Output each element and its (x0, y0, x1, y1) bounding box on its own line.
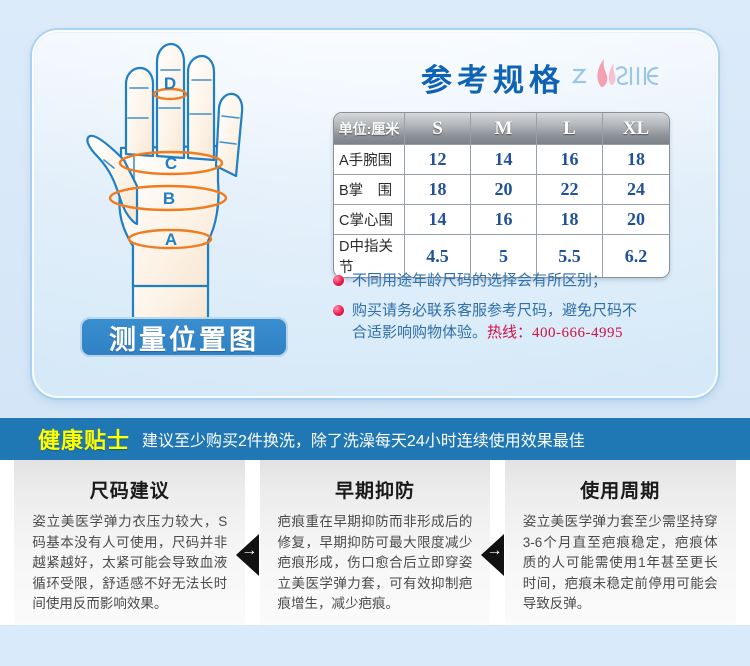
cell-palmcenter-l: 18 (537, 205, 603, 235)
column-body-usage-period: 姿立美医学弹力套至少需坚持穿3-6个月直至疤痕稳定，疤痕体质的人可能需使用1年甚… (523, 512, 718, 615)
spec-header: 参考规格 (333, 44, 678, 96)
column-gap (736, 460, 750, 625)
cell-wrist-s: 12 (405, 145, 471, 175)
note-item: 购买请务必联系客服参考尺码，避免尺码不 合适影响购物体验。热线：400-666-… (333, 300, 683, 344)
bullet-dot-icon (333, 275, 344, 286)
table-row: B掌 围 18 20 22 24 (334, 175, 669, 205)
health-tip-text: 建议至少购买2件换洗，除了洗澡每天24小时连续使用效果最佳 (142, 427, 585, 451)
cell-wrist-xl: 18 (603, 145, 669, 175)
table-header-row: 单位:厘米 S M L XL (334, 113, 669, 145)
zslmes-logo-svg (571, 56, 663, 90)
table-header-m: M (471, 113, 537, 145)
table-body: A手腕围 12 14 16 18 B掌 围 18 20 22 24 C掌心围 1… (334, 145, 669, 277)
info-column-usage-period: 使用周期 姿立美医学弹力套至少需坚持穿3-6个月直至疤痕稳定，疤痕体质的人可能需… (505, 460, 736, 625)
row-label-wrist: A手腕围 (334, 145, 405, 175)
cell-wrist-l: 16 (537, 145, 603, 175)
table-header-l: L (537, 113, 603, 145)
table-header-xl: XL (603, 113, 669, 145)
size-spec-table: 单位:厘米 S M L XL A手腕围 12 14 16 18 B掌 围 18 (333, 112, 670, 278)
arrow-glyph-2: → (486, 543, 502, 559)
health-tip-banner: 健康贴士 建议至少购买2件换洗，除了洗澡每天24小时连续使用效果最佳 (0, 418, 750, 460)
note-text-2-line2: 合适影响购物体验。 (352, 324, 487, 341)
cell-palm-l: 22 (537, 175, 603, 205)
brand-logo (571, 56, 663, 95)
notes-list: 不同用途年龄尺码的选择会有所区别； 购买请务必联系客服参考尺码，避免尺码不 合适… (333, 270, 683, 353)
diagram-caption: 测量位置图 (80, 317, 288, 357)
arrow-glyph-1: → (241, 543, 257, 559)
bullet-dot-icon (333, 305, 344, 316)
column-title-usage-period: 使用周期 (523, 476, 718, 503)
hand-illustration-svg: D C B A (58, 36, 308, 326)
size-guide-page: D C B A 测量位置图 参考规格 (0, 0, 750, 666)
footer-strip (0, 625, 750, 666)
marker-D: D (164, 74, 176, 93)
table-row: C掌心围 14 16 18 20 (334, 205, 669, 235)
column-body-size-advice: 姿立美医学弹力衣压力较大，S码基本没有人可使用，尺码并非越紧越好，太紧可能会导致… (32, 512, 227, 615)
marker-C: C (165, 154, 177, 173)
row-label-palm: B掌 围 (334, 175, 405, 205)
note-text-2: 购买请务必联系客服参考尺码，避免尺码不 合适影响购物体验。热线：400-666-… (352, 300, 637, 344)
column-gap (0, 460, 14, 625)
cell-palmcenter-s: 14 (405, 205, 471, 235)
info-column-early-prevention: 早期抑防 疤痕重在早期抑防而非形成后的修复，早期抑防可最大限度减少疤痕形成，伤口… (260, 460, 491, 625)
marker-A: A (165, 230, 177, 249)
column-title-size-advice: 尺码建议 (32, 476, 227, 503)
note-item: 不同用途年龄尺码的选择会有所区别； (333, 270, 683, 291)
hotline-number[interactable]: 400-666-4995 (532, 325, 623, 341)
column-title-early-prevention: 早期抑防 (278, 476, 473, 503)
info-columns: 尺码建议 姿立美医学弹力衣压力较大，S码基本没有人可使用，尺码并非越紧越好，太紧… (0, 460, 750, 625)
table-header: 单位:厘米 S M L XL (334, 113, 669, 145)
note-text-2-line1: 购买请务必联系客服参考尺码，避免尺码不 (352, 302, 637, 319)
cell-palmcenter-m: 16 (471, 205, 537, 235)
cell-palm-s: 18 (405, 175, 471, 205)
info-column-size-advice: 尺码建议 姿立美医学弹力衣压力较大，S码基本没有人可使用，尺码并非越紧越好，太紧… (14, 460, 245, 625)
page-title: 参考规格 (421, 65, 565, 96)
column-body-early-prevention: 疤痕重在早期抑防而非形成后的修复，早期抑防可最大限度减少疤痕形成，伤口愈合后立即… (278, 512, 473, 615)
hotline-label: 热线： (487, 324, 532, 341)
marker-B: B (163, 189, 175, 208)
hand-measurement-diagram: D C B A 测量位置图 (58, 36, 308, 356)
table-row: A手腕围 12 14 16 18 (334, 145, 669, 175)
hero-section: D C B A 测量位置图 参考规格 (0, 0, 750, 418)
cell-palmcenter-xl: 20 (603, 205, 669, 235)
health-tip-tag: 健康贴士 (38, 423, 130, 455)
row-label-palm-center: C掌心围 (334, 205, 405, 235)
note-text-1: 不同用途年龄尺码的选择会有所区别； (352, 270, 607, 291)
cell-palm-xl: 24 (603, 175, 669, 205)
cell-palm-m: 20 (471, 175, 537, 205)
table-unit-header: 单位:厘米 (334, 113, 405, 145)
table-header-s: S (405, 113, 471, 145)
cell-wrist-m: 14 (471, 145, 537, 175)
